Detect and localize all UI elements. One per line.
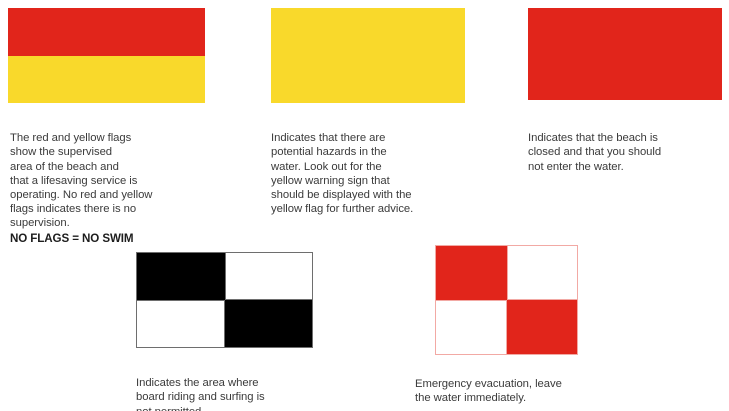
red-and-white-quartered-flag-graphic: [435, 245, 578, 355]
beach-safety-flags-page: The red and yellow flags show the superv…: [0, 0, 729, 411]
red-and-yellow-flag-caption: The red and yellow flags show the superv…: [10, 117, 200, 260]
red-flag-caption: Indicates that the beach is closed and t…: [528, 117, 723, 174]
flag-quadrant-bottom-right: [507, 300, 578, 354]
flag-quadrant-top-left: [436, 246, 507, 300]
red-and-yellow-flag-graphic: [8, 8, 205, 103]
flag-band-red: [8, 8, 205, 56]
red-flag-graphic: [528, 8, 722, 100]
yellow-flag-caption: Indicates that there are potential hazar…: [271, 117, 471, 216]
flag-band-yellow: [271, 8, 465, 103]
caption-bold-text: NO FLAGS = NO SWIM: [10, 231, 200, 246]
flag-quadrant-bottom-left: [137, 300, 225, 347]
flag-band-yellow: [8, 56, 205, 104]
flag-quadrant-bottom-left: [436, 300, 507, 354]
black-and-white-quartered-flag-graphic: [136, 252, 313, 348]
caption-text: Indicates that the beach is closed and t…: [528, 132, 661, 172]
black-and-white-quartered-flag-caption: Indicates the area where board riding an…: [136, 362, 326, 411]
yellow-flag-graphic: [271, 8, 465, 103]
flag-band-red: [528, 8, 722, 100]
caption-text: Emergency evacuation, leave the water im…: [415, 378, 562, 404]
flag-quadrant-top-left: [137, 253, 225, 300]
caption-text: The red and yellow flags show the superv…: [10, 132, 152, 229]
caption-text: Indicates the area where board riding an…: [136, 377, 265, 411]
caption-text: Indicates that there are potential hazar…: [271, 132, 413, 215]
red-and-white-quartered-flag-caption: Emergency evacuation, leave the water im…: [415, 363, 635, 406]
flag-quadrant-bottom-right: [225, 300, 313, 347]
flag-quadrant-top-right: [507, 246, 578, 300]
flag-quadrant-top-right: [225, 253, 313, 300]
